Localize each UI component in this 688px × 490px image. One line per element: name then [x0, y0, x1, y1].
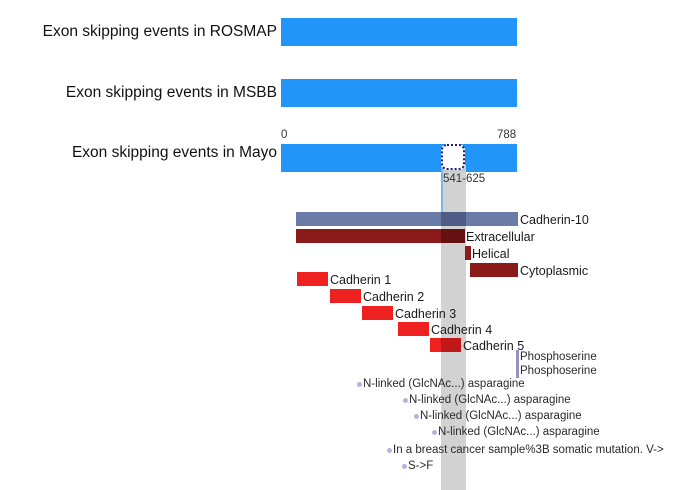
feature-bar-cadherin-1[interactable]: [297, 272, 328, 286]
feature-label-cadherin-10: Cadherin-10: [520, 214, 589, 227]
feature-label-helical: Helical: [472, 248, 510, 261]
site-label-nlinked-1: N-linked (GlcNAc...) asparagine: [363, 379, 525, 391]
bar-exon-skipping-msbb[interactable]: [281, 79, 517, 107]
bar-exon-skipping-rosmap[interactable]: [281, 18, 517, 46]
selection-handle[interactable]: [441, 144, 465, 170]
site-label-nlinked-2: N-linked (GlcNAc...) asparagine: [409, 395, 571, 407]
feature-label-cytoplasmic: Cytoplasmic: [520, 265, 588, 278]
feature-bar-cadherin-10[interactable]: [296, 212, 518, 226]
protein-feature-viewer: Exon skipping events in ROSMAP Exon skip…: [0, 0, 688, 490]
row-label-msbb: Exon skipping events in MSBB: [66, 85, 277, 101]
bar-exon-skipping-mayo[interactable]: [281, 144, 517, 172]
feature-bar-cytoplasmic[interactable]: [470, 263, 518, 277]
selection-range-label: 541-625: [443, 173, 485, 185]
site-marker-nlinked-4[interactable]: [432, 430, 437, 435]
feature-label-extracellular: Extracellular: [466, 231, 535, 244]
axis-tick-min: 0: [281, 130, 287, 142]
site-marker-phosphoserine-2[interactable]: [516, 364, 519, 378]
feature-bar-extracellular[interactable]: [296, 229, 465, 243]
row-label-rosmap: Exon skipping events in ROSMAP: [43, 24, 277, 40]
site-marker-phosphoserine-1[interactable]: [516, 350, 519, 364]
variant-label-breast-cancer-somatic: In a breast cancer sample%3B somatic mut…: [393, 445, 664, 457]
variant-marker-breast-cancer-somatic[interactable]: [387, 448, 392, 453]
feature-label-cadherin-1: Cadherin 1: [330, 274, 391, 287]
feature-label-cadherin-3: Cadherin 3: [395, 308, 456, 321]
site-label-nlinked-4: N-linked (GlcNAc...) asparagine: [438, 427, 600, 439]
site-marker-nlinked-1[interactable]: [357, 382, 362, 387]
site-label-phosphoserine-1: Phosphoserine: [520, 352, 597, 364]
feature-label-cadherin-2: Cadherin 2: [363, 291, 424, 304]
feature-bar-helical[interactable]: [465, 246, 471, 260]
feature-bar-cadherin-10-selected-overlap: [441, 212, 466, 226]
feature-label-cadherin-4: Cadherin 4: [431, 324, 492, 337]
site-label-nlinked-3: N-linked (GlcNAc...) asparagine: [420, 411, 582, 423]
variant-label-s-to-f: S->F: [408, 461, 433, 473]
feature-label-cadherin-5: Cadherin 5: [463, 340, 524, 353]
variant-marker-s-to-f[interactable]: [402, 464, 407, 469]
site-marker-nlinked-3[interactable]: [414, 414, 419, 419]
feature-bar-cadherin-4[interactable]: [398, 322, 429, 336]
feature-bar-cadherin-2[interactable]: [330, 289, 361, 303]
feature-bar-cadherin-5-selected-overlap: [441, 338, 461, 352]
row-label-mayo: Exon skipping events in Mayo: [72, 145, 277, 161]
axis-tick-max: 788: [497, 130, 516, 142]
feature-bar-extracellular-selected-overlap: [441, 229, 465, 243]
site-marker-nlinked-2[interactable]: [403, 398, 408, 403]
feature-bar-cadherin-3[interactable]: [362, 306, 393, 320]
site-label-phosphoserine-2: Phosphoserine: [520, 366, 597, 378]
